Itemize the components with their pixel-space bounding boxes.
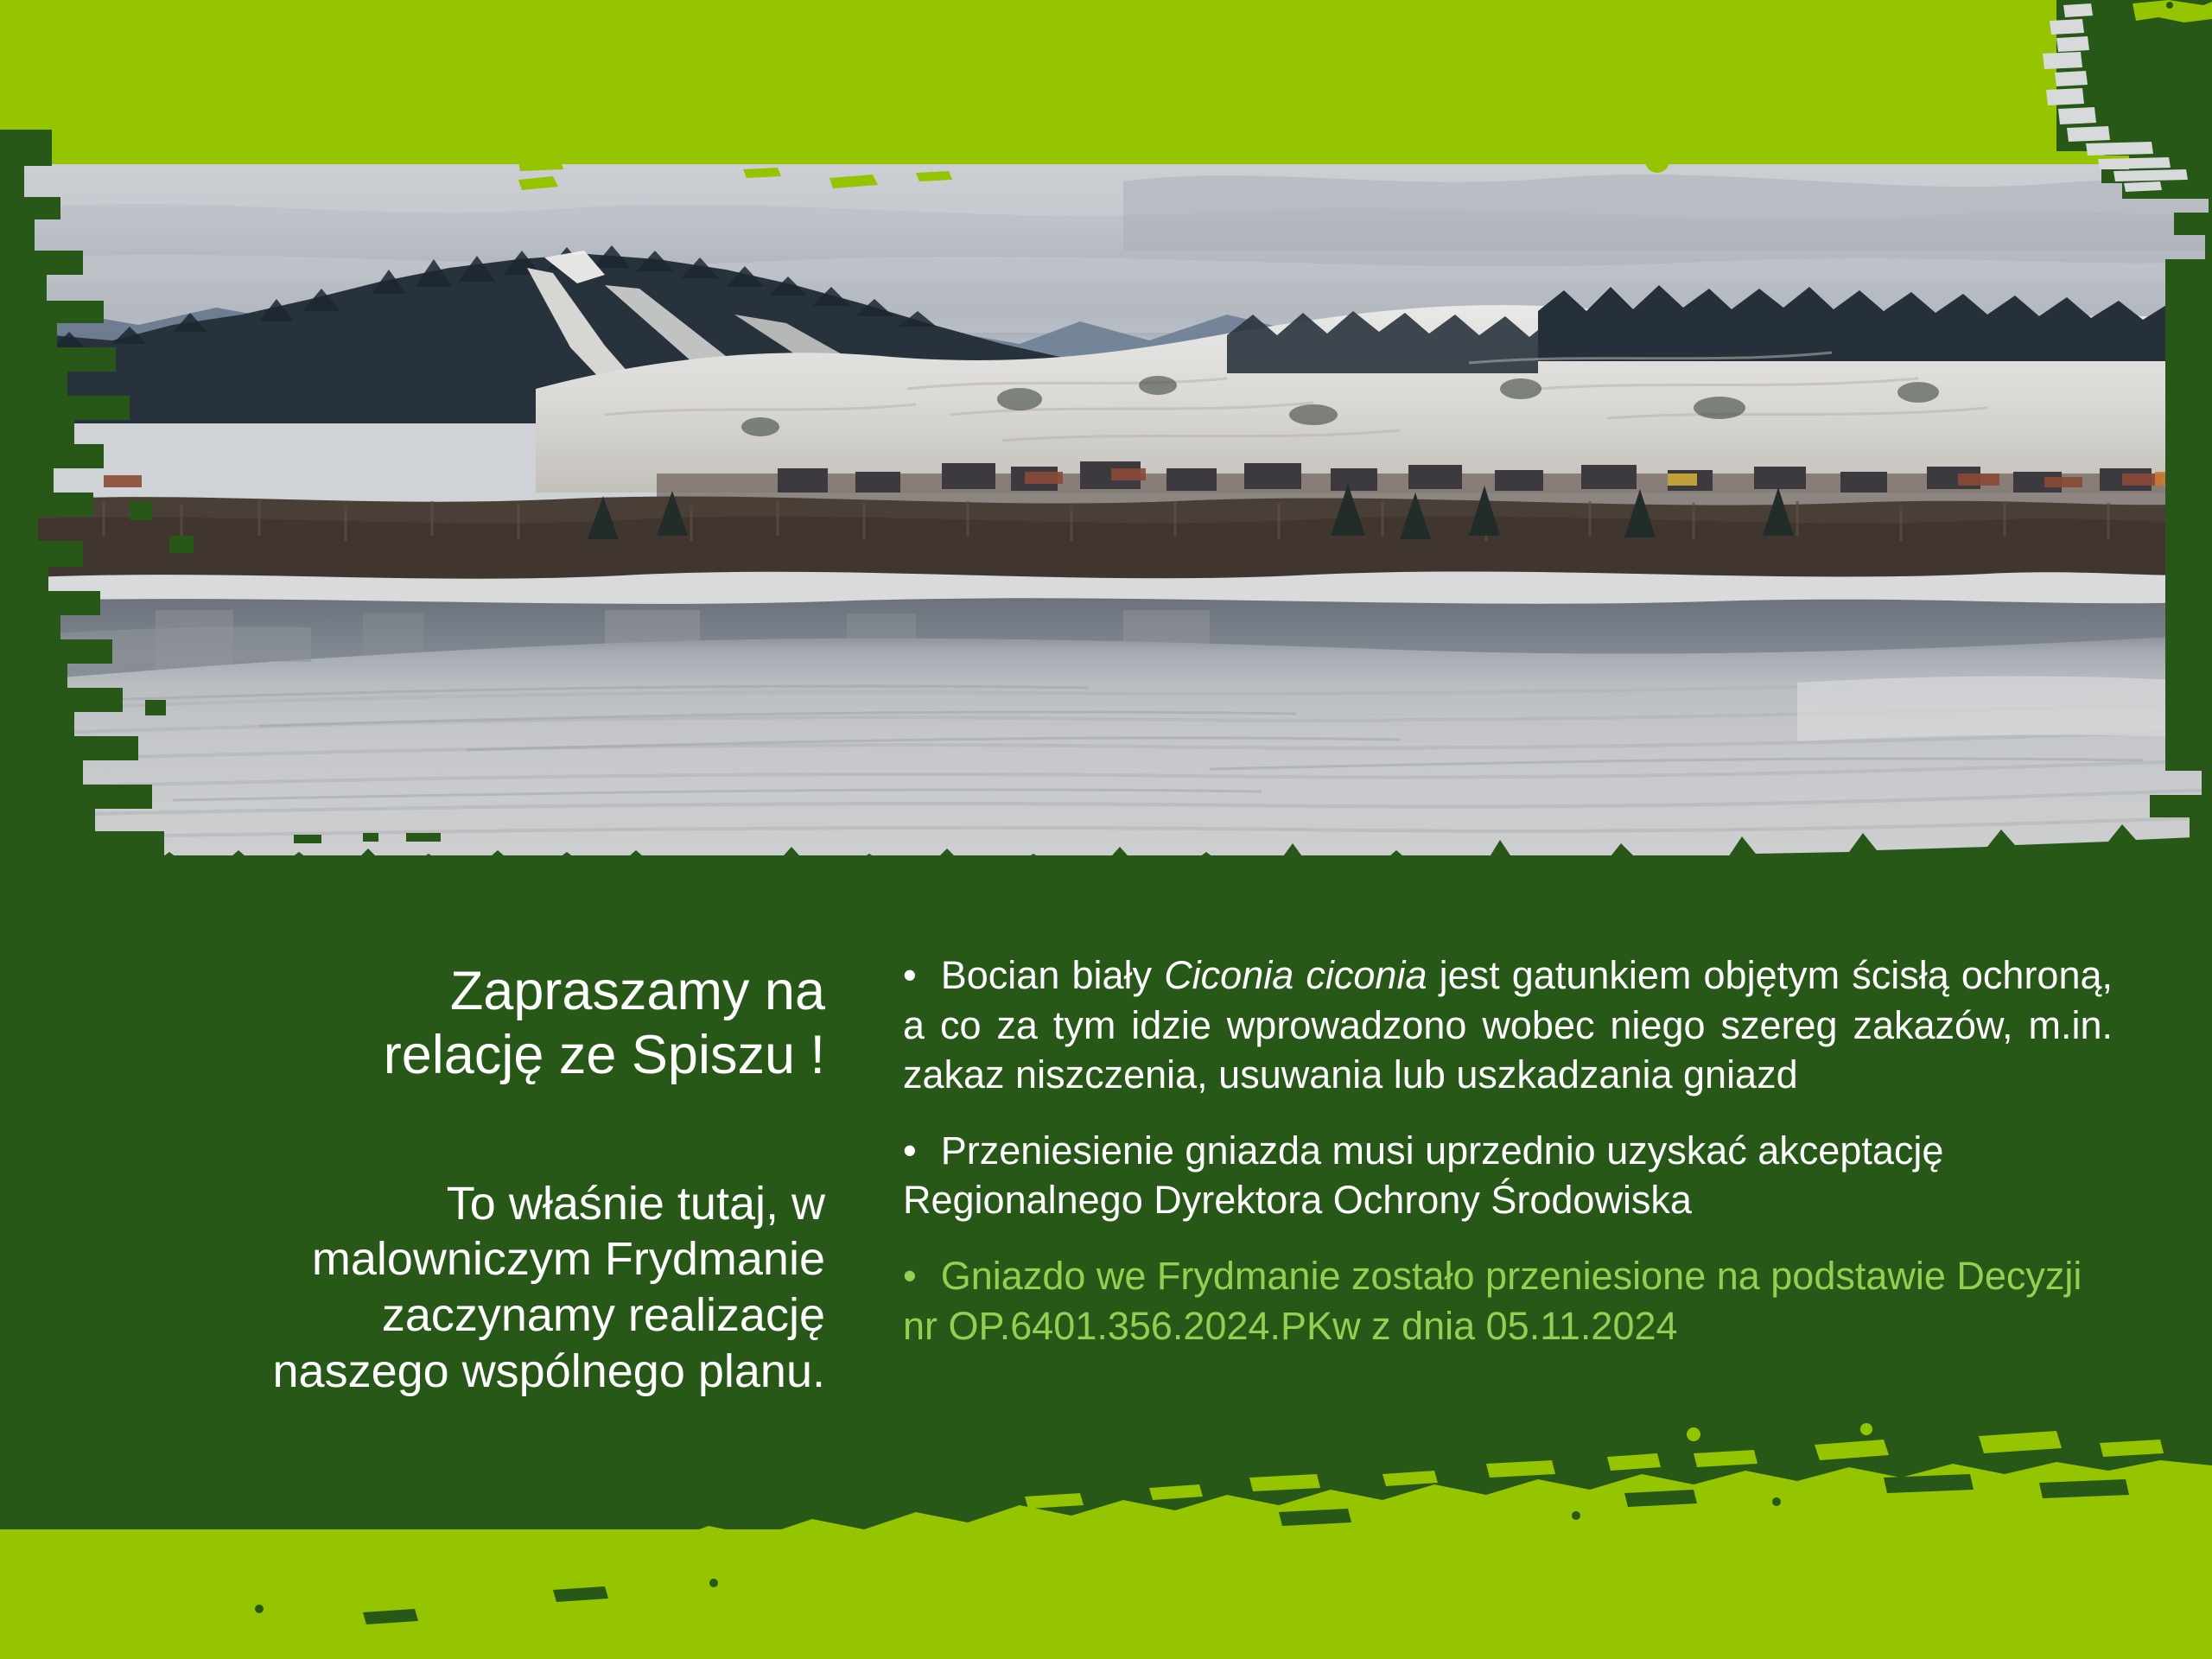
top-lime-band	[0, 0, 2212, 164]
bullet-marker-icon: •	[903, 1254, 917, 1298]
slide-heading: Zapraszamy na relację ze Spiszu !	[134, 959, 825, 1088]
bullet-decision-text: Gniazdo we Frydmanie zostało przeniesion…	[903, 1254, 2082, 1348]
right-bullet-column: •Bocian biały Ciconia ciconia jest gatun…	[903, 950, 2113, 1351]
presentation-slide: Zapraszamy na relację ze Spiszu ! To wła…	[0, 0, 2212, 1659]
bullet-marker-icon: •	[903, 953, 917, 997]
slide-subtext: To właśnie tutaj, w malowniczym Frydmani…	[134, 1088, 825, 1400]
bullet-protection-species-name: Ciconia ciconia	[1164, 953, 1427, 997]
landscape-photo	[0, 130, 2212, 855]
top-right-dark-block	[2056, 0, 2212, 151]
bullet-marker-icon: •	[903, 1128, 917, 1173]
photo-scene	[0, 130, 2212, 855]
bullet-acceptance-text: Przeniesienie gniazda musi uprzednio uzy…	[903, 1128, 1943, 1223]
left-text-column: Zapraszamy na relację ze Spiszu ! To wła…	[134, 959, 825, 1400]
bullet-protection: •Bocian biały Ciconia ciconia jest gatun…	[903, 950, 2113, 1100]
slide-content: Zapraszamy na relację ze Spiszu ! To wła…	[0, 916, 2212, 1469]
bullet-acceptance: •Przeniesienie gniazda musi uprzednio uz…	[903, 1126, 2113, 1225]
bullet-decision: •Gniazdo we Frydmanie zostało przeniesio…	[903, 1251, 2113, 1351]
bottom-lime-band	[0, 1529, 2212, 1659]
bullet-protection-text-a: Bocian biały	[941, 953, 1164, 997]
